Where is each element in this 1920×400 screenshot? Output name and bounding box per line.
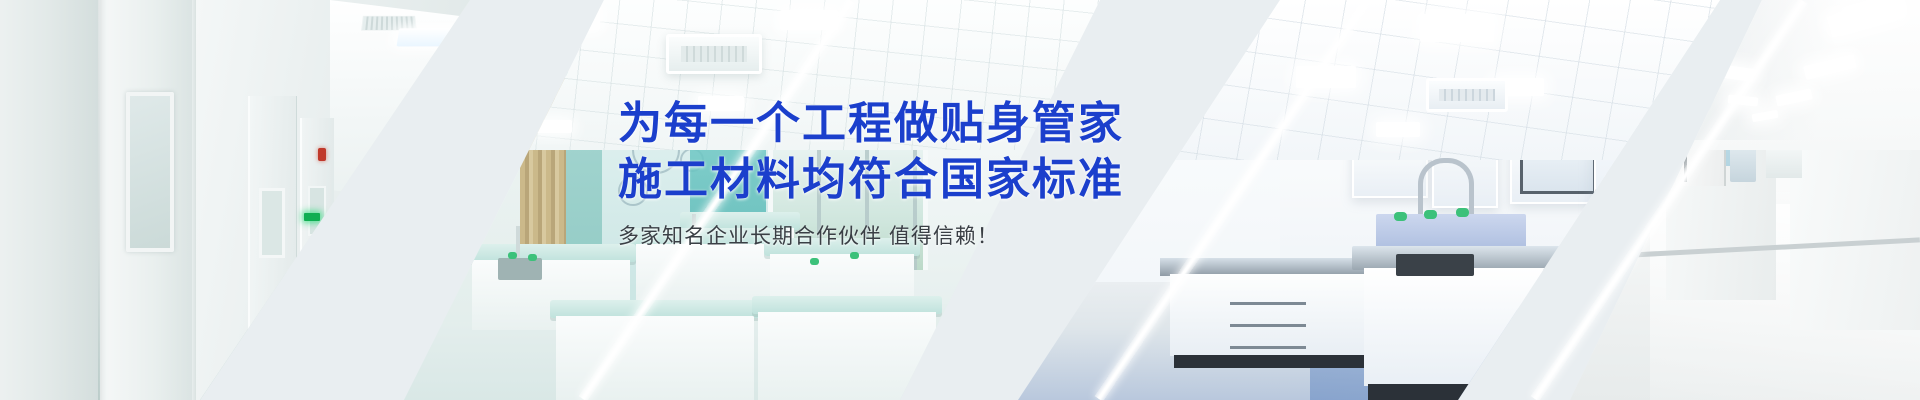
banner-subline: 多家知名企业长期合作伙伴 值得信赖！ bbox=[618, 220, 1438, 250]
green-valve-handle-icon bbox=[508, 252, 517, 259]
cleanroom-door bbox=[300, 118, 334, 326]
door-viewport bbox=[259, 188, 285, 258]
worker-hood bbox=[387, 227, 404, 246]
worker-hood bbox=[358, 220, 375, 239]
exit-sign-icon bbox=[304, 213, 320, 221]
worker-in-coverall bbox=[352, 232, 382, 314]
lab-bench bbox=[752, 296, 942, 400]
panel-light bbox=[536, 6, 600, 30]
foreground-door-panel bbox=[0, 0, 98, 400]
ceiling-vent-grille-icon bbox=[416, 94, 455, 103]
panel-light bbox=[1420, 14, 1494, 42]
banner-copy-block: 为每一个工程做贴身管家 施工材料均符合国家标准 多家知名企业长期合作伙伴 值得信… bbox=[618, 98, 1438, 250]
ceiling-ac-unit-icon bbox=[1426, 78, 1508, 112]
hero-banner: 为每一个工程做贴身管家 施工材料均符合国家标准 多家知名企业长期合作伙伴 值得信… bbox=[0, 0, 1920, 400]
lab-bench bbox=[550, 300, 760, 400]
green-valve-handle-icon bbox=[528, 254, 537, 261]
medical-cart bbox=[1730, 148, 1756, 182]
cleanroom-door bbox=[248, 96, 297, 346]
fire-alarm-icon bbox=[318, 148, 326, 161]
worker-in-coverall bbox=[382, 238, 410, 314]
corridor-vanishing-end bbox=[1766, 150, 1802, 178]
headline-line-2: 施工材料均符合国家标准 bbox=[618, 154, 1438, 206]
ceiling-lamp bbox=[443, 151, 490, 162]
ceiling-ac-unit-icon bbox=[666, 34, 762, 74]
bench-drawer-stack bbox=[1230, 286, 1306, 358]
lab-sink bbox=[498, 258, 542, 280]
worker-glove bbox=[405, 280, 412, 289]
lab-sink bbox=[1396, 254, 1474, 276]
worker-mask-icon bbox=[390, 236, 401, 242]
door-viewport bbox=[308, 186, 326, 236]
headline-line-1: 为每一个工程做贴身管家 bbox=[618, 98, 1438, 150]
ceiling-lamp bbox=[458, 188, 495, 197]
ceiling-lamp bbox=[397, 28, 472, 46]
worker-mask-icon bbox=[361, 229, 372, 235]
molecule-graphic-icon bbox=[432, 126, 454, 148]
molecule-graphic-icon bbox=[424, 118, 462, 156]
panel-light bbox=[532, 120, 572, 133]
exit-sign-icon bbox=[378, 212, 392, 219]
green-valve-handle-icon bbox=[850, 252, 859, 259]
molecule-graphic-icon bbox=[442, 176, 472, 206]
ceiling-lamp bbox=[423, 99, 483, 113]
green-valve-handle-icon bbox=[1456, 208, 1469, 217]
green-valve-handle-icon bbox=[810, 258, 819, 265]
worker-glove bbox=[350, 276, 357, 285]
door-window bbox=[126, 92, 174, 252]
molecule-graphic-icon bbox=[476, 150, 502, 176]
